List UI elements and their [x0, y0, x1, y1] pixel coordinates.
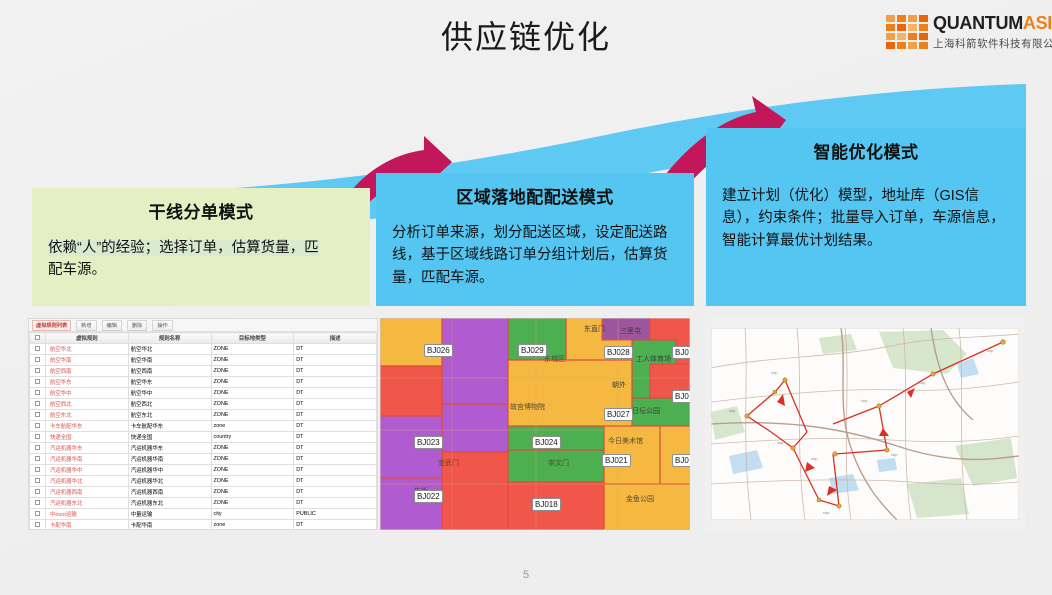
row-checkbox-cell[interactable]	[30, 344, 46, 355]
rule-name-cell[interactable]: 汽运机器华南	[46, 454, 129, 465]
row-checkbox-cell[interactable]	[30, 476, 46, 487]
screenshot-rule-table[interactable]: 虚拟规则列表 新增 编辑 删除 操作 虚拟规则规则名称目标地类型描述 航空华北航…	[28, 318, 378, 530]
row-checkbox-cell[interactable]	[30, 520, 46, 531]
row-checkbox-cell[interactable]	[30, 432, 46, 443]
table-cell: DT	[294, 344, 377, 355]
screenshot-zone-map[interactable]: 东直门 三里屯 工人体育场 朝外 日坛公园 东城区 西城区 宣武门 崇文门 牛街…	[380, 318, 690, 530]
table-row[interactable]: 汽运机器华中汽运机器华中ZONEDT	[30, 465, 377, 476]
table-row[interactable]: 航空华北航空华北ZONEDT	[30, 344, 377, 355]
table-cell: 汽运机器华北	[128, 476, 211, 487]
step-title: 区域落地配配送模式	[392, 183, 678, 208]
logo-grid-icon	[886, 15, 928, 49]
table-cell: 航空华中	[128, 388, 211, 399]
table-row[interactable]: 中ount运输中量运输cityPUBLIC	[30, 509, 377, 520]
table-row[interactable]: 航空华南航空华南ZONEDT	[30, 355, 377, 366]
table-cell: 汽运机器华中	[128, 465, 211, 476]
zone-label-bj029[interactable]: BJ029	[518, 344, 547, 357]
zone-label-bj023[interactable]: BJ023	[414, 436, 443, 449]
table-cell: ZONE	[211, 487, 294, 498]
table-cell: DT	[294, 476, 377, 487]
table-cell: DT	[294, 355, 377, 366]
zone-place-label: 宣武门	[438, 458, 459, 468]
step-title: 干线分单模式	[48, 198, 354, 223]
table-row[interactable]: 汽运机器华北汽运机器华北ZONEDT	[30, 476, 377, 487]
table-header-select[interactable]	[30, 333, 46, 344]
logo-grid-cell	[908, 33, 917, 40]
logo-grid-cell	[897, 24, 906, 31]
table-cell: DT	[294, 410, 377, 421]
zone-place-label: 朝外	[612, 380, 626, 390]
table-cell: 航空华东	[128, 377, 211, 388]
logo-word-primary: QUANTUM	[933, 13, 1023, 33]
table-cell: 中量运输	[128, 509, 211, 520]
row-checkbox[interactable]	[35, 379, 40, 384]
table-cell: ZONE	[211, 465, 294, 476]
table-header-cell[interactable]: 规则名称	[128, 333, 211, 344]
table-row[interactable]: 汽运机器华东汽运机器华东ZONEDT	[30, 443, 377, 454]
logo-grid-cell	[886, 33, 895, 40]
table-cell: DT	[294, 366, 377, 377]
step-body: 依赖“人”的经验；选择订单，估算货量，匹 配车源。	[48, 237, 354, 282]
table-row[interactable]: 航空华中航空华中ZONEDT	[30, 388, 377, 399]
table-cell: country	[211, 432, 294, 443]
table-cell: 卡车航配华东	[128, 421, 211, 432]
svg-text:stop: stop	[823, 511, 830, 515]
table-body[interactable]: 航空华北航空华北ZONEDT航空华南航空华南ZONEDT航空西南航空西南ZONE…	[30, 344, 377, 531]
row-checkbox-cell[interactable]	[30, 388, 46, 399]
table-cell: ZONE	[211, 399, 294, 410]
svg-text:stop: stop	[811, 457, 818, 461]
table-cell: 航空华南	[128, 355, 211, 366]
table-row[interactable]: 航空东北航空东北ZONEDT	[30, 410, 377, 421]
table-cell: DT	[294, 377, 377, 388]
table-cell: city	[211, 509, 294, 520]
row-checkbox[interactable]	[35, 368, 40, 373]
row-checkbox[interactable]	[35, 511, 40, 516]
slide-canvas: 供应链优化 QUANTUMASIA 上海科箭软件科技有限公司 干线分单模式	[0, 0, 1052, 595]
row-checkbox-cell[interactable]	[30, 366, 46, 377]
table-cell: 快递全国	[128, 432, 211, 443]
zone-place-label: 日坛公园	[632, 406, 660, 416]
table-cell: DT	[294, 465, 377, 476]
table-row[interactable]: 航空西北航空西北ZONEDT	[30, 399, 377, 410]
rule-name-cell[interactable]: 航空东北	[46, 410, 129, 421]
table-row[interactable]: 卡配华南卡配华南zoneDT	[30, 520, 377, 531]
logo-grid-cell	[908, 24, 917, 31]
rule-name-cell[interactable]: 汽运机器东北	[46, 498, 129, 509]
table-header-cell[interactable]: 虚拟规则	[46, 333, 129, 344]
rule-name-cell[interactable]: 汽运机器西南	[46, 487, 129, 498]
table-cell: DT	[294, 388, 377, 399]
row-checkbox-cell[interactable]	[30, 487, 46, 498]
row-checkbox-cell[interactable]	[30, 399, 46, 410]
table-cell: PUBLIC	[294, 509, 377, 520]
table-cell: ZONE	[211, 388, 294, 399]
logo-grid-cell	[897, 33, 906, 40]
screenshot-route-map[interactable]: stop stop stop stop stop stop stop stop …	[705, 318, 1025, 530]
table-button-action[interactable]: 操作	[152, 320, 172, 331]
table-cell: DT	[294, 432, 377, 443]
rule-name-cell[interactable]: 快递全国	[46, 432, 129, 443]
zone-label-bj022[interactable]: BJ022	[414, 490, 443, 503]
table-cell: DT	[294, 399, 377, 410]
table-header-cell[interactable]: 目标地类型	[211, 333, 294, 344]
rule-name-cell[interactable]: 航空西北	[46, 399, 129, 410]
row-checkbox[interactable]	[35, 346, 40, 351]
step-card-intelligent[interactable]: 智能优化模式 建立计划（优化）模型，地址库（GIS信息），约束条件；批量导入订单…	[706, 128, 1026, 306]
rule-name-cell[interactable]: 汽运机器华中	[46, 465, 129, 476]
zone-place-label: 金鱼公园	[626, 494, 654, 504]
row-checkbox[interactable]	[35, 500, 40, 505]
table-cell: DT	[294, 454, 377, 465]
table-cell: 卡配华南	[128, 520, 211, 531]
row-checkbox-cell[interactable]	[30, 465, 46, 476]
row-checkbox-cell[interactable]	[30, 410, 46, 421]
table-cell: 航空西北	[128, 399, 211, 410]
rule-name-cell[interactable]: 航空华中	[46, 388, 129, 399]
table-row[interactable]: 航空华东航空华东ZONEDT	[30, 377, 377, 388]
table-cell: ZONE	[211, 443, 294, 454]
rule-name-cell[interactable]: 航空华北	[46, 344, 129, 355]
table-row[interactable]: 航空西南航空西南ZONEDT	[30, 366, 377, 377]
table-cell: ZONE	[211, 344, 294, 355]
table-cell: ZONE	[211, 355, 294, 366]
zone-place-label: 崇文门	[548, 458, 569, 468]
row-checkbox[interactable]	[35, 434, 40, 439]
row-checkbox-cell[interactable]	[30, 443, 46, 454]
select-all-checkbox[interactable]	[35, 335, 40, 340]
table-cell: DT	[294, 421, 377, 432]
step-title: 智能优化模式	[722, 138, 1010, 163]
logo-grid-cell	[908, 15, 917, 22]
row-checkbox[interactable]	[35, 478, 40, 483]
row-checkbox-cell[interactable]	[30, 454, 46, 465]
table-cell: ZONE	[211, 476, 294, 487]
zone-label-bj018[interactable]: BJ018	[532, 498, 561, 511]
step-card-mainline[interactable]: 干线分单模式 依赖“人”的经验；选择订单，估算货量，匹 配车源。	[32, 188, 370, 306]
route-map-graphic: stop stop stop stop stop stop stop stop …	[711, 328, 1019, 520]
table-cell: 汽运机器东北	[128, 498, 211, 509]
zone-place-label: 故宫博物院	[510, 402, 545, 412]
step-body-line1: 依赖“人”的经验；选择订单，估算货量，匹	[48, 240, 319, 256]
row-checkbox[interactable]	[35, 390, 40, 395]
step-body-line2: 配车源。	[48, 262, 106, 278]
table-row[interactable]: 快递全国快递全国countryDT	[30, 432, 377, 443]
zone-label-bj027[interactable]: BJ027	[604, 408, 633, 421]
table-cell: ZONE	[211, 454, 294, 465]
logo-grid-cell	[886, 42, 895, 49]
logo-grid-cell	[886, 24, 895, 31]
logo-grid-cell	[919, 15, 928, 22]
table-button-edit[interactable]: 编辑	[102, 320, 122, 331]
row-checkbox[interactable]	[35, 445, 40, 450]
zone-label-bj026[interactable]: BJ026	[424, 344, 453, 357]
logo-grid-cell	[919, 42, 928, 49]
rule-name-cell[interactable]: 航空西南	[46, 366, 129, 377]
table-cell: ZONE	[211, 377, 294, 388]
row-checkbox-cell[interactable]	[30, 509, 46, 520]
rule-name-cell[interactable]: 卡车航配华东	[46, 421, 129, 432]
zone-place-label: 工人体育场	[636, 354, 671, 364]
table-button-delete[interactable]: 删除	[127, 320, 147, 331]
row-checkbox-cell[interactable]	[30, 498, 46, 509]
table-row[interactable]: 汽运机器东北汽运机器东北ZONEDT	[30, 498, 377, 509]
logo-grid-cell	[897, 15, 906, 22]
table-header-cell[interactable]: 描述	[294, 333, 377, 344]
table-button-add[interactable]: 新增	[76, 320, 96, 331]
row-checkbox[interactable]	[35, 401, 40, 406]
zone-place-label: 东直门	[584, 324, 605, 334]
zone-label-clipped[interactable]: BJ0	[672, 346, 690, 359]
table-cell: ZONE	[211, 498, 294, 509]
page-number: 5	[0, 569, 1052, 581]
row-checkbox-cell[interactable]	[30, 355, 46, 366]
svg-text:stop: stop	[891, 453, 898, 457]
logo-grid-cell	[886, 15, 895, 22]
svg-text:stop: stop	[771, 371, 778, 375]
table-toolbar: 虚拟规则列表 新增 编辑 删除 操作	[29, 319, 377, 332]
row-checkbox[interactable]	[35, 357, 40, 362]
table-cell: 汽运机器华南	[128, 454, 211, 465]
row-checkbox-cell[interactable]	[30, 421, 46, 432]
zone-label-clipped[interactable]: BJ0	[672, 454, 690, 467]
zone-label-bj021[interactable]: BJ021	[602, 454, 631, 467]
svg-text:stop: stop	[987, 349, 994, 353]
table-cell: ZONE	[211, 410, 294, 421]
row-checkbox[interactable]	[35, 489, 40, 494]
table-cell: DT	[294, 443, 377, 454]
company-logo: QUANTUMASIA 上海科箭软件科技有限公司	[886, 12, 1040, 60]
table-cell: 汽运机器西南	[128, 487, 211, 498]
table-cell: 汽运机器华东	[128, 443, 211, 454]
table-cell: zone	[211, 520, 294, 531]
rule-name-cell[interactable]: 汽运机器华东	[46, 443, 129, 454]
zone-label-bj024[interactable]: BJ024	[532, 436, 561, 449]
rule-name-cell[interactable]: 航空华东	[46, 377, 129, 388]
logo-grid-cell	[908, 42, 917, 49]
step-body: 分析订单来源，划分配送区域，设定配送路线，基于区域线路订单分组计划后，估算货量，…	[392, 222, 678, 289]
table-cell: DT	[294, 487, 377, 498]
table-cell: 航空西南	[128, 366, 211, 377]
zone-label-clipped[interactable]: BJ0	[672, 390, 690, 403]
svg-text:stop: stop	[777, 441, 784, 445]
rule-name-cell[interactable]: 卡配华南	[46, 520, 129, 531]
zone-place-label: 三里屯	[620, 326, 641, 336]
table-cell: zone	[211, 421, 294, 432]
table-cell: ZONE	[211, 366, 294, 377]
table-row[interactable]: 汽运机器华南汽运机器华南ZONEDT	[30, 454, 377, 465]
row-checkbox[interactable]	[35, 423, 40, 428]
table-cell: 航空华北	[128, 344, 211, 355]
table-cell: 航空东北	[128, 410, 211, 421]
table-cell: DT	[294, 498, 377, 509]
rule-name-cell[interactable]: 航空华南	[46, 355, 129, 366]
step-card-regional[interactable]: 区域落地配配送模式 分析订单来源，划分配送区域，设定配送路线，基于区域线路订单分…	[376, 173, 694, 306]
logo-grid-cell	[919, 33, 928, 40]
zone-label-bj028[interactable]: BJ028	[604, 346, 633, 359]
rule-name-cell[interactable]: 中ount运输	[46, 509, 129, 520]
rule-name-cell[interactable]: 汽运机器华北	[46, 476, 129, 487]
svg-text:stop: stop	[729, 409, 736, 413]
row-checkbox[interactable]	[35, 412, 40, 417]
table-tab-rule-list[interactable]: 虚拟规则列表	[32, 320, 71, 331]
table-header-row: 虚拟规则规则名称目标地类型描述	[30, 333, 377, 344]
row-checkbox[interactable]	[35, 456, 40, 461]
logo-wordmark: QUANTUMASIA	[933, 13, 1052, 33]
rule-table[interactable]: 虚拟规则规则名称目标地类型描述 航空华北航空华北ZONEDT航空华南航空华南ZO…	[29, 332, 377, 530]
row-checkbox-cell[interactable]	[30, 377, 46, 388]
svg-text:stop: stop	[919, 381, 926, 385]
logo-grid-cell	[897, 42, 906, 49]
zone-place-label: 东城区	[544, 354, 565, 364]
row-checkbox[interactable]	[35, 467, 40, 472]
logo-grid-cell	[919, 24, 928, 31]
logo-subtitle: 上海科箭软件科技有限公司	[933, 36, 1052, 51]
step-body: 建立计划（优化）模型，地址库（GIS信息），约束条件；批量导入订单，车源信息，智…	[722, 185, 1010, 252]
svg-text:stop: stop	[861, 399, 868, 403]
table-row[interactable]: 卡车航配华东卡车航配华东zoneDT	[30, 421, 377, 432]
table-row[interactable]: 汽运机器西南汽运机器西南ZONEDT	[30, 487, 377, 498]
table-cell: DT	[294, 520, 377, 531]
zone-place-label: 今日美术馆	[608, 436, 643, 446]
row-checkbox[interactable]	[35, 522, 40, 527]
logo-word-accent: ASIA	[1023, 13, 1052, 33]
